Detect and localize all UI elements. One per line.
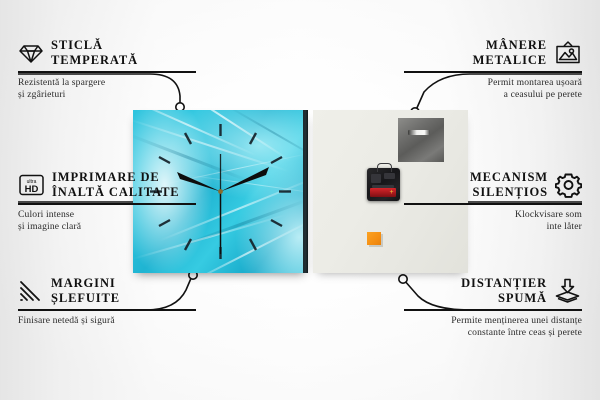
- callout-subtitle-line-2: inte låter: [404, 221, 582, 233]
- clock-hands-pin: [218, 189, 223, 194]
- diamond-icon: [18, 41, 44, 65]
- callout-header: MARGINI ȘLEFUITE: [18, 276, 196, 305]
- callout-rule: [18, 203, 196, 205]
- callout-subtitle: Rezistentă la spargere și zgârieturi: [18, 77, 196, 101]
- callout-subtitle-line-2: și zgârieturi: [18, 89, 196, 101]
- callout-rule: [18, 71, 196, 73]
- callout-title: STICLĂ TEMPERATĂ: [51, 38, 138, 67]
- callout-title-line-2: ÎNALTĂ CALITATE: [52, 185, 180, 200]
- callout-title-line-2: TEMPERATĂ: [51, 53, 138, 68]
- callout-title: DISTANȚIER SPUMĂ: [461, 276, 547, 305]
- callout-rule: [18, 309, 196, 311]
- callout-metal-handles: MÂNERE METALICE Permit montarea ușoară a…: [404, 38, 582, 101]
- callout-subtitle-line-1: Rezistentă la spargere: [18, 77, 196, 89]
- callout-subtitle-line-1: Permit montarea ușoară: [404, 77, 582, 89]
- gear-icon: [555, 172, 582, 198]
- hanger-slot: [408, 130, 430, 135]
- glass-side-edge: [303, 110, 308, 273]
- callout-title-line-2: METALICE: [473, 53, 547, 68]
- callout-subtitle: Permit montarea ușoară a ceasului pe per…: [404, 77, 582, 101]
- callout-subtitle: Permite menținerea unei distanțe constan…: [404, 315, 582, 339]
- callout-subtitle-line-1: Finisare netedă și sigură: [18, 315, 196, 327]
- callout-title: MARGINI ȘLEFUITE: [51, 276, 120, 305]
- callout-title: IMPRIMARE DE ÎNALTĂ CALITATE: [52, 170, 180, 199]
- metal-hanger-plate: [398, 118, 444, 162]
- callout-subtitle-line-1: Culori intense: [18, 209, 196, 221]
- callout-subtitle-line-1: Klockvisare som: [404, 209, 582, 221]
- battery-plus-mark: +: [389, 190, 394, 195]
- callout-title-line-2: SILENȚIOS: [470, 185, 548, 200]
- callout-rule: [404, 309, 582, 311]
- callout-header: MÂNERE METALICE: [404, 38, 582, 67]
- callout-foam-spacer: DISTANȚIER SPUMĂ Permite menținerea unei…: [404, 276, 582, 339]
- callout-header: MECANISM SILENȚIOS: [404, 170, 582, 199]
- callout-subtitle: Finisare netedă și sigură: [18, 315, 196, 327]
- callout-rule: [404, 203, 582, 205]
- callout-title-line-2: ȘLEFUITE: [51, 291, 120, 306]
- callout-tempered-glass: STICLĂ TEMPERATĂ Rezistentă la spargere …: [18, 38, 196, 101]
- clock-mechanism-box: +: [367, 168, 400, 201]
- callout-high-quality-print: ultra HD IMPRIMARE DE ÎNALTĂ CALITATE Cu…: [18, 170, 196, 233]
- callout-subtitle-line-2: a ceasului pe perete: [404, 89, 582, 101]
- callout-rule: [404, 71, 582, 73]
- battery: +: [370, 188, 396, 197]
- callout-polished-edges: MARGINI ȘLEFUITE Finisare netedă și sigu…: [18, 276, 196, 327]
- callout-subtitle-line-2: și imagine clară: [18, 221, 196, 233]
- callout-header: ultra HD IMPRIMARE DE ÎNALTĂ CALITATE: [18, 170, 196, 199]
- mechanism-hanger-loop: [377, 163, 392, 172]
- minute-hand: [221, 167, 270, 192]
- callout-subtitle-line-2: constante între ceas și perete: [404, 327, 582, 339]
- callout-subtitle: Culori intense și imagine clară: [18, 209, 196, 233]
- callout-header: DISTANȚIER SPUMĂ: [404, 276, 582, 305]
- infographic-canvas: + STICLĂ TEMPERATĂ Rezistentă la spa: [0, 0, 600, 400]
- callout-title-line-1: IMPRIMARE DE: [52, 170, 180, 185]
- picture-hanger-icon: [554, 40, 582, 66]
- callout-subtitle: Klockvisare som inte låter: [404, 209, 582, 233]
- stacked-layers-arrow-icon: [554, 278, 582, 304]
- callout-header: STICLĂ TEMPERATĂ: [18, 38, 196, 67]
- callout-title-line-1: MÂNERE: [473, 38, 547, 53]
- callout-title-line-1: DISTANȚIER: [461, 276, 547, 291]
- callout-title-line-2: SPUMĂ: [461, 291, 547, 306]
- callout-title: MÂNERE METALICE: [473, 38, 547, 67]
- callout-title: MECANISM SILENȚIOS: [470, 170, 548, 199]
- callout-title-line-1: STICLĂ: [51, 38, 138, 53]
- ultra-hd-icon-large-label: HD: [25, 184, 39, 195]
- callout-subtitle-line-1: Permite menținerea unei distanțe: [404, 315, 582, 327]
- callout-silent-mechanism: MECANISM SILENȚIOS Klockvisare som inte …: [404, 170, 582, 233]
- diagonal-stripes-icon: [18, 279, 44, 303]
- ultra-hd-icon: ultra HD: [18, 173, 45, 197]
- callout-title-line-1: MARGINI: [51, 276, 120, 291]
- callout-title-line-1: MECANISM: [470, 170, 548, 185]
- foam-spacer-pad: [367, 232, 381, 245]
